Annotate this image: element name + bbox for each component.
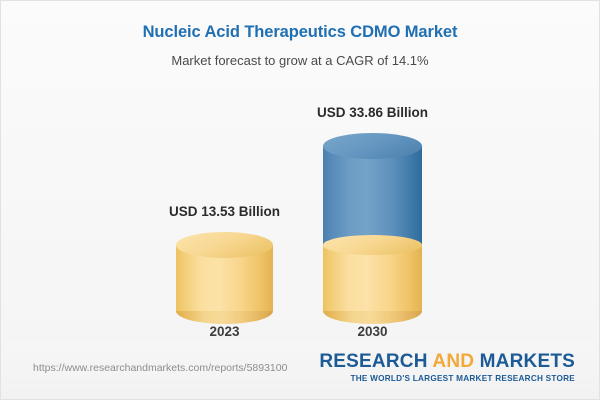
logo-tagline: THE WORLD'S LARGEST MARKET RESEARCH STOR… [319, 373, 575, 384]
value-label-2030: USD 33.86 Billion [317, 105, 428, 120]
cylinder-body-2023 [176, 245, 273, 311]
cylinder-segment-seam [323, 235, 422, 255]
cylinder-top-cap-2030 [323, 133, 422, 159]
cylinder-segment-base-2030 [323, 245, 422, 311]
cylinder-segment-base-2023 [176, 245, 273, 311]
research-and-markets-logo[interactable]: RESEARCH AND MARKETS THE WORLD'S LARGEST… [319, 351, 575, 384]
logo-text-markets: MARKETS [480, 351, 575, 372]
chart-header: Nucleic Acid Therapeutics CDMO Market Ma… [1, 1, 599, 70]
logo-text-research: RESEARCH [319, 351, 427, 372]
axis-label-2030: 2030 [357, 324, 387, 339]
value-label-2023: USD 13.53 Billion [169, 204, 280, 219]
cylinder-body-2030 [323, 146, 422, 311]
chart-subtitle: Market forecast to grow at a CAGR of 14.… [1, 52, 599, 70]
chart-plot-area: USD 13.53 Billion 2023 USD 33.86 Billion [1, 86, 600, 341]
page-title: Nucleic Acid Therapeutics CDMO Market [1, 21, 599, 43]
axis-label-2023: 2023 [209, 324, 239, 339]
cylinder-segment-growth-2030 [323, 146, 422, 245]
market-infographic: Nucleic Acid Therapeutics CDMO Market Ma… [0, 0, 600, 400]
cylinder-2030 [323, 146, 422, 311]
logo-text-and: AND [432, 351, 474, 372]
cylinder-top-cap-2023 [176, 232, 273, 258]
cylinder-2023 [176, 245, 273, 311]
footer: https://www.researchandmarkets.com/repor… [1, 341, 600, 399]
logo-wordmark: RESEARCH AND MARKETS [319, 351, 575, 372]
source-url[interactable]: https://www.researchandmarkets.com/repor… [33, 362, 287, 374]
